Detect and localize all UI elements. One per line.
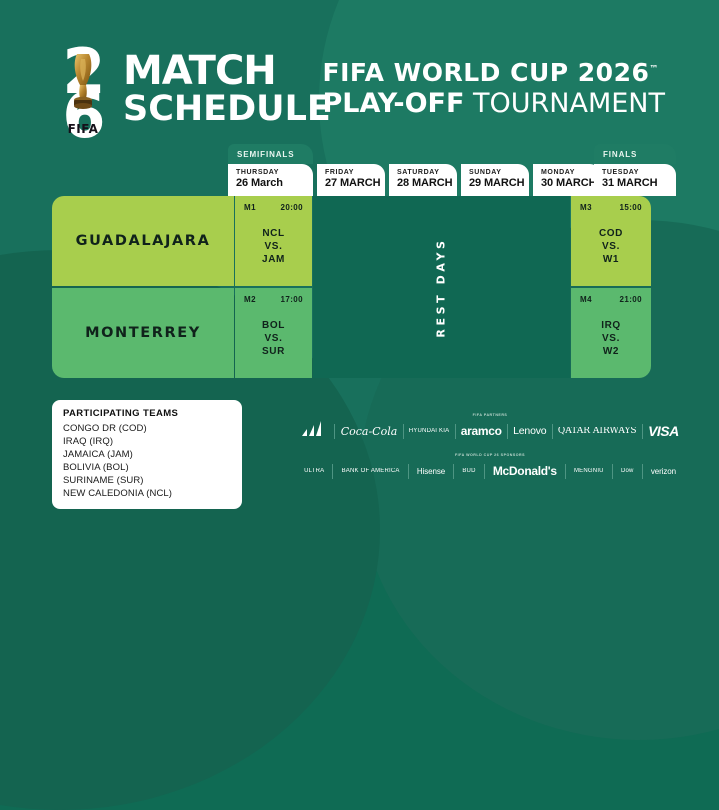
match-schedule-title: MATCH SCHEDULE [123, 50, 331, 128]
sponsor-logo-mengniu: MENGNIU [566, 468, 612, 474]
sponsor-footer: FIFA PARTNERS Coca-Cola HYUNDAI KIA aram… [296, 412, 684, 492]
match-m1-home: NCL [244, 227, 303, 240]
competition-subtitle-bold: PLAY-OFF [323, 88, 465, 119]
match-m3-meta: M3 15:00 [580, 203, 642, 212]
sponsor-logo-qatar-airways: QATAR AIRWAYS [553, 427, 642, 436]
rest-days-label: REST DAYS [435, 237, 448, 337]
match-m1-id: M1 [244, 203, 256, 212]
match-m3-id: M3 [580, 203, 592, 212]
participating-team-1: IRAQ (IRQ) [63, 435, 232, 448]
date-header-sunday: SUNDAY 29 MARCH [461, 164, 529, 196]
match-m4-teams: IRQ VS. W2 [580, 319, 642, 358]
sponsor-logo-michelob-ultra: ULTRA [296, 468, 332, 474]
date-dow-3: SUNDAY [469, 168, 529, 177]
date-header-monday: MONDAY 30 MARCH [533, 164, 601, 196]
participating-team-0: CONGO DR (COD) [63, 422, 232, 435]
sponsor-logo-lenovo: Lenovo [508, 425, 552, 437]
date-num-3: 29 MARCH [469, 177, 529, 190]
participating-team-4: SURINAME (SUR) [63, 474, 232, 487]
date-num-1: 27 MARCH [325, 177, 385, 190]
competition-name-text: FIFA WORLD CUP 2026 [323, 58, 650, 87]
match-m4-meta: M4 21:00 [580, 295, 642, 304]
sponsor-logo-visa: VISA [643, 423, 684, 439]
sponsor-logo-coca-cola: Coca-Cola [335, 425, 402, 438]
match-m1-meta: M1 20:00 [244, 203, 303, 212]
match-cell-m1[interactable]: M1 20:00 NCL VS. JAM [235, 196, 312, 286]
stage-tab-semifinals[interactable]: SEMIFINALS [228, 144, 313, 164]
brand-lockup: 2 6 [52, 50, 331, 138]
date-num-4: 30 MARCH [541, 177, 601, 190]
competition-title: FIFA WORLD CUP 2026™ PLAY-OFF TOURNAMENT [323, 58, 666, 119]
match-m3-teams: COD VS. W1 [580, 227, 642, 266]
match-m4-id: M4 [580, 295, 592, 304]
logo-fifa-word: FIFA [52, 122, 114, 136]
date-dow-2: SATURDAY [397, 168, 457, 177]
competition-subtitle: PLAY-OFF TOURNAMENT [323, 88, 666, 119]
match-m2-home: BOL [244, 319, 303, 332]
date-header-friday: FRIDAY 27 MARCH [317, 164, 385, 196]
venue-cell-monterrey[interactable]: MONTERREY [52, 288, 234, 378]
participating-teams-panel: PARTICIPATING TEAMS CONGO DR (COD) IRAQ … [52, 400, 242, 509]
date-dow-4: MONDAY [541, 168, 601, 177]
sponsor-logo-mcdonalds: McDonald's [485, 464, 565, 478]
fifa-sponsors-band: FIFA WORLD CUP 26 SPONSORS ULTRA BANK OF… [296, 452, 684, 484]
match-m2-vs: VS. [244, 332, 303, 345]
match-m3-vs: VS. [580, 240, 642, 253]
sponsor-logo-hisense: Hisense [409, 467, 453, 476]
date-header-saturday: SATURDAY 28 MARCH [389, 164, 457, 196]
match-m3-time: 15:00 [620, 203, 642, 212]
venue-cell-guadalajara[interactable]: GUADALAJARA [52, 196, 234, 286]
fifa-sponsors-row: ULTRA BANK OF AMERICA Hisense BUD McDona… [296, 458, 684, 484]
match-m4-home: IRQ [580, 319, 642, 332]
date-dow-0: THURSDAY [236, 168, 313, 177]
sponsor-logo-bank-of-america: BANK OF AMERICA [333, 468, 407, 474]
stage-tab-row: SEMIFINALS FINALS [228, 144, 679, 164]
fifa-partners-row: Coca-Cola HYUNDAI KIA aramco Lenovo QATA… [296, 418, 684, 444]
date-num-5: 31 MARCH [602, 177, 676, 190]
match-m2-away: SUR [244, 345, 303, 358]
participating-team-3: BOLIVIA (BOL) [63, 461, 232, 474]
match-m4-vs: VS. [580, 332, 642, 345]
match-cell-m2[interactable]: M2 17:00 BOL VS. SUR [235, 288, 312, 378]
date-num-0: 26 March [236, 177, 313, 190]
sponsor-logo-verizon: verizon [643, 467, 684, 476]
date-dow-1: FRIDAY [325, 168, 385, 177]
match-m1-vs: VS. [244, 240, 303, 253]
fifa-26-logo: 2 6 [52, 50, 114, 138]
world-cup-trophy-icon [68, 52, 98, 114]
match-m4-away: W2 [580, 345, 642, 358]
venue-name-guadalajara: GUADALAJARA [76, 233, 211, 249]
match-m2-meta: M2 17:00 [244, 295, 303, 304]
sponsor-logo-budweiser: BUD [454, 468, 484, 474]
title-line-schedule: SCHEDULE [123, 90, 331, 128]
participating-team-5: NEW CALEDONIA (NCL) [63, 487, 232, 500]
match-m1-teams: NCL VS. JAM [244, 227, 303, 266]
participating-team-2: JAMAICA (JAM) [63, 448, 232, 461]
match-cell-m4[interactable]: M4 21:00 IRQ VS. W2 [571, 288, 651, 378]
competition-name: FIFA WORLD CUP 2026™ [323, 58, 666, 87]
match-cell-m3[interactable]: M3 15:00 COD VS. W1 [571, 196, 651, 286]
trademark-symbol: ™ [649, 65, 659, 75]
match-m4-time: 21:00 [620, 295, 642, 304]
stage-tab-finals-label: FINALS [603, 150, 637, 159]
match-m1-away: JAM [244, 253, 303, 266]
participating-teams-title: PARTICIPATING TEAMS [63, 408, 232, 419]
match-m2-time: 17:00 [281, 295, 303, 304]
sponsor-logo-adidas [296, 420, 334, 442]
match-schedule-poster: 2 6 [0, 0, 719, 510]
title-line-match: MATCH [123, 52, 331, 90]
rest-days-band: REST DAYS [313, 196, 570, 378]
sponsor-logo-dow: Dow [613, 468, 642, 474]
date-header-tuesday: TUESDAY 31 MARCH [594, 164, 676, 196]
date-header-thursday: THURSDAY 26 March [228, 164, 313, 196]
match-m2-id: M2 [244, 295, 256, 304]
date-num-2: 28 MARCH [397, 177, 457, 190]
poster-header: 2 6 [0, 0, 719, 140]
match-m1-time: 20:00 [281, 203, 303, 212]
stage-tab-finals[interactable]: FINALS [594, 144, 676, 164]
date-dow-5: TUESDAY [602, 168, 676, 177]
stage-tab-semifinals-label: SEMIFINALS [237, 150, 294, 159]
adidas-icon [301, 420, 329, 437]
match-m2-teams: BOL VS. SUR [244, 319, 303, 358]
competition-subtitle-rest: TOURNAMENT [464, 88, 665, 119]
sponsor-logo-hyundai-kia: HYUNDAI KIA [404, 428, 455, 434]
match-m3-home: COD [580, 227, 642, 240]
sponsor-logo-aramco: aramco [456, 424, 507, 438]
match-m3-away: W1 [580, 253, 642, 266]
schedule-grid: REST DAYS GUADALAJARA M1 20:00 NCL VS. J… [52, 196, 664, 378]
fifa-partners-band: FIFA PARTNERS Coca-Cola HYUNDAI KIA aram… [296, 412, 684, 444]
venue-name-monterrey: MONTERREY [85, 325, 201, 341]
